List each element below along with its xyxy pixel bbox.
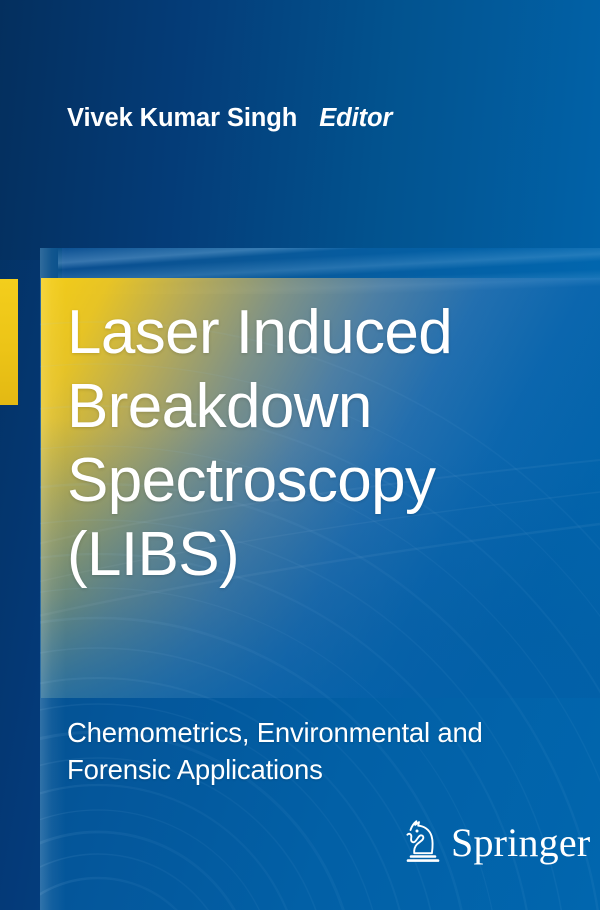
- editor-role-label: Editor: [319, 104, 392, 132]
- title-line: (LIBS): [67, 518, 587, 592]
- artwork-spine-highlight: [40, 248, 66, 910]
- title-line: Breakdown: [67, 370, 587, 444]
- subtitle-line: Forensic Applications: [67, 751, 567, 788]
- book-subtitle: Chemometrics, Environmental and Forensic…: [67, 714, 567, 788]
- book-cover: Vivek Kumar SinghEditor Laser Induced Br…: [0, 0, 600, 910]
- springer-wordmark: Springer: [451, 823, 590, 863]
- title-line: Spectroscopy: [67, 444, 587, 518]
- springer-knight-icon: [398, 817, 444, 869]
- yellow-accent-bar: [0, 279, 18, 405]
- book-title: Laser Induced Breakdown Spectroscopy (LI…: [67, 296, 587, 592]
- publisher-logo: Springer: [398, 812, 578, 874]
- editor-credit: Vivek Kumar SinghEditor: [67, 104, 392, 133]
- subtitle-line: Chemometrics, Environmental and: [67, 714, 567, 751]
- editor-name: Vivek Kumar Singh: [67, 104, 297, 132]
- title-line: Laser Induced: [67, 296, 587, 370]
